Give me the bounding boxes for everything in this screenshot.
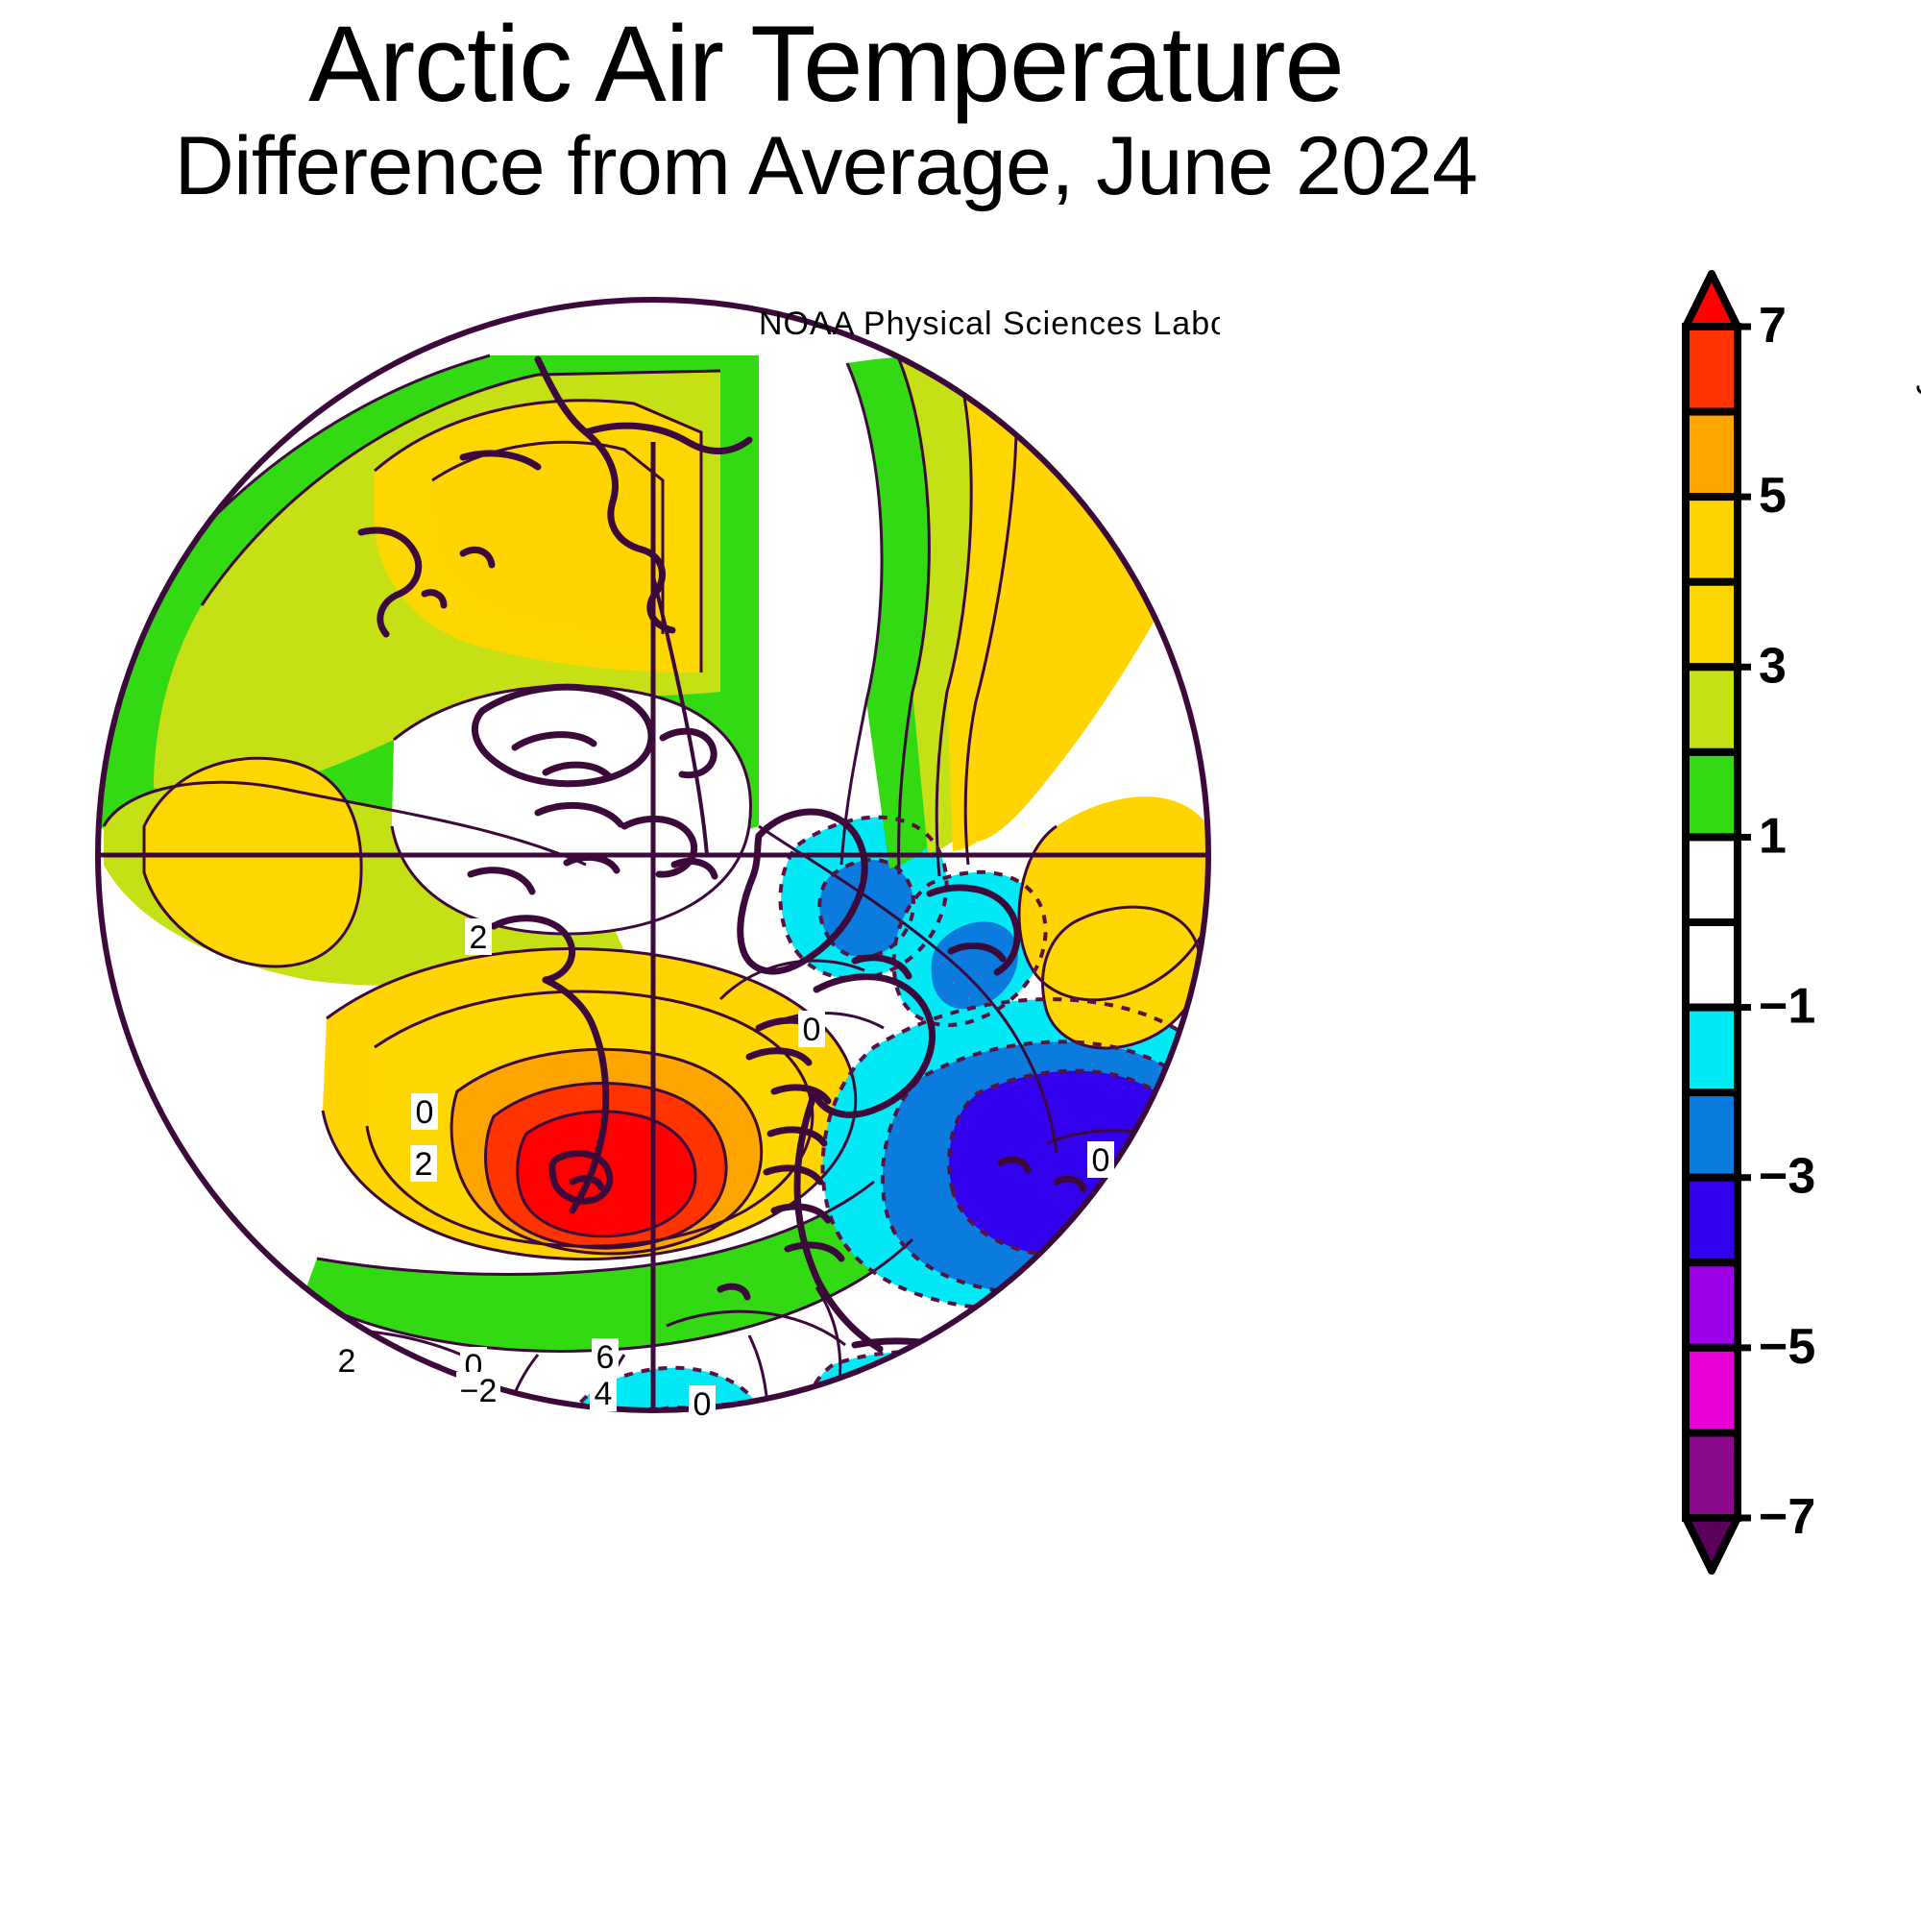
polar-map-svg: NOAA Physical Sciences Laboratory 202006… (86, 288, 1220, 1422)
colorbar-tick-label: 7 (1759, 298, 1787, 354)
contour-label: 2 (333, 1342, 360, 1380)
colorbar-tick-label: 3 (1759, 638, 1787, 694)
colorbar-tick-label: 5 (1759, 468, 1787, 524)
figure-root: Arctic Air Temperature Difference from A… (0, 0, 1921, 1932)
colorbar-band (1686, 1432, 1738, 1518)
colorbar-tick-label: −3 (1759, 1149, 1815, 1205)
contour-label-text: 0 (416, 1094, 434, 1131)
colorbar-band (1686, 582, 1738, 668)
page-title: Arctic Air Temperature (0, 10, 1652, 119)
fill-indigo-m3tom4-atl (949, 1071, 1196, 1258)
contour-label: 0 (798, 1011, 825, 1048)
colorbar-band (1686, 752, 1738, 838)
colorbar-band-over (1686, 274, 1738, 327)
contour-label-text: 2 (470, 919, 488, 956)
fill-blue-m2tom3-bl (208, 1381, 498, 1422)
colorbar-tick-label: −5 (1759, 1319, 1815, 1375)
contour-label-text: 2 (338, 1343, 356, 1380)
contour-label-text: 2 (415, 1146, 433, 1183)
colorbar-band (1686, 497, 1738, 582)
contour-label: 4 (590, 1375, 617, 1412)
page-subtitle: Difference from Average, June 2024 (0, 123, 1652, 209)
contour-label-text: −2 (460, 1373, 498, 1409)
contour-label: 0 (411, 1093, 438, 1131)
fill-indigo-m3tom4-bl (240, 1407, 474, 1422)
colorbar-band (1686, 667, 1738, 752)
contour-label: 0 (689, 1385, 716, 1422)
contour-label-text: 6 (596, 1339, 615, 1376)
colorbar-band (1686, 1178, 1738, 1263)
colorbar-tick-label: 1 (1759, 808, 1787, 864)
figure-credit-text: NSIDC courtesy NOAA/ESRL Physical Scienc… (1915, 0, 1921, 404)
colorbar-band (1686, 412, 1738, 498)
map-header-credit: NOAA Physical Sciences Laboratory (759, 306, 1220, 342)
colorbar-band (1686, 1008, 1738, 1093)
colorbar: 7531−1−3−5−7 (1666, 269, 1839, 1652)
contour-label-text: 0 (803, 1012, 821, 1048)
figure-title-block: Arctic Air Temperature Difference from A… (0, 10, 1652, 210)
figure-credit: NSIDC courtesy NOAA/ESRL Physical Scienc… (1915, 0, 1921, 404)
contour-label: 0 (1087, 1141, 1114, 1179)
fill-white-0to1-arch (392, 686, 751, 934)
contour-label-text: 0 (693, 1386, 712, 1422)
colorbar-band (1686, 1262, 1738, 1348)
contour-label: 6 (592, 1338, 619, 1376)
colorbar-band (1686, 922, 1738, 1008)
colorbar-band-under (1686, 1518, 1738, 1571)
contour-label: −2 (456, 1372, 500, 1409)
colorbar-band (1686, 1092, 1738, 1178)
contour-label: 2 (410, 1145, 437, 1183)
contour-label-text: 4 (595, 1376, 613, 1412)
colorbar-tick-label: −1 (1759, 979, 1815, 1035)
colorbar-band (1686, 327, 1738, 412)
colorbar-svg: 7531−1−3−5−7 (1666, 269, 1839, 1652)
colorbar-band (1686, 837, 1738, 922)
polar-map: NOAA Physical Sciences Laboratory 202006… (86, 288, 1220, 1422)
colorbar-bands (1686, 274, 1738, 1571)
colorbar-tick-label: −7 (1759, 1489, 1815, 1545)
colorbar-ticks: 7531−1−3−5−7 (1738, 298, 1815, 1545)
contour-label-text: 0 (1092, 1142, 1110, 1179)
colorbar-band (1686, 1348, 1738, 1433)
contour-label: 2 (465, 918, 492, 956)
